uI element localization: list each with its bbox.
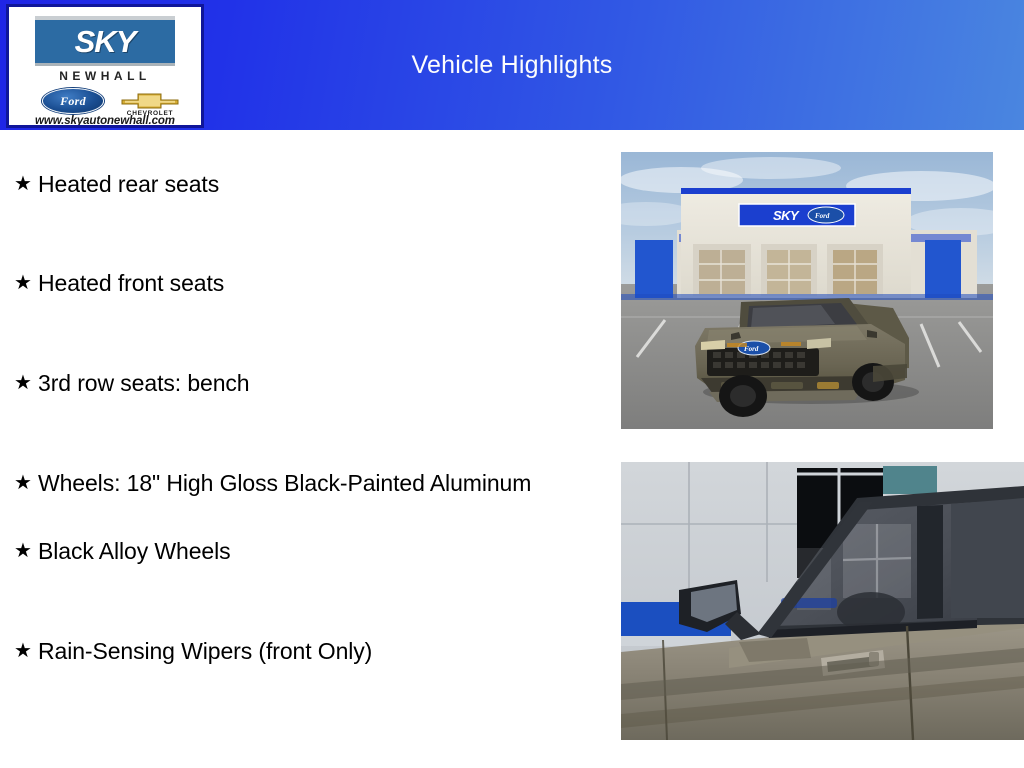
star-bullet-icon: ★ — [8, 466, 38, 500]
dealer-location-text: NEWHALL — [9, 69, 201, 83]
list-item-label: 3rd row seats: bench — [38, 366, 588, 400]
star-bullet-icon: ★ — [8, 534, 38, 568]
list-item-label: Heated rear seats — [38, 167, 588, 201]
ford-logo-icon: Ford — [42, 88, 104, 114]
list-item: ★ Rain-Sensing Wipers (front Only) — [8, 634, 588, 668]
list-item-label: Wheels: 18" High Gloss Black-Painted Alu… — [38, 466, 588, 500]
highlights-list: ★ Heated rear seats ★ Heated front seats… — [8, 150, 588, 668]
list-item-label: Black Alloy Wheels — [38, 534, 588, 568]
dealer-website-text: www.skyautonewhall.com — [9, 115, 201, 128]
list-item: ★ Black Alloy Wheels — [8, 534, 588, 568]
ford-logo-text: Ford — [43, 94, 103, 109]
sky-plaque: SKY — [35, 16, 175, 66]
vehicle-door-detail-photo — [621, 462, 1024, 740]
dealer-logo-inner: SKY NEWHALL Ford CHEVROLET www.skyautone… — [9, 7, 201, 125]
list-item-label: Rain-Sensing Wipers (front Only) — [38, 634, 588, 668]
svg-text:Ford: Ford — [815, 212, 830, 220]
dealer-logo: SKY NEWHALL Ford CHEVROLET www.skyautone… — [6, 4, 204, 128]
list-item: ★ Wheels: 18" High Gloss Black-Painted A… — [8, 466, 588, 500]
svg-text:SKY: SKY — [773, 208, 800, 223]
star-bullet-icon: ★ — [8, 634, 38, 668]
vehicle-front-photo: SKY Ford — [621, 152, 993, 429]
star-bullet-icon: ★ — [8, 167, 38, 201]
list-item: ★ Heated rear seats — [8, 167, 588, 201]
star-bullet-icon: ★ — [8, 366, 38, 400]
list-item: ★ 3rd row seats: bench — [8, 366, 588, 400]
list-item: ★ Heated front seats — [8, 266, 588, 300]
slide-root: Vehicle Highlights SKY NEWHALL Ford CHEV… — [0, 0, 1024, 768]
sky-brand-text: SKY — [35, 24, 175, 59]
star-bullet-icon: ★ — [8, 266, 38, 300]
list-item-label: Heated front seats — [38, 266, 588, 300]
chevrolet-bowtie-icon — [121, 89, 179, 109]
